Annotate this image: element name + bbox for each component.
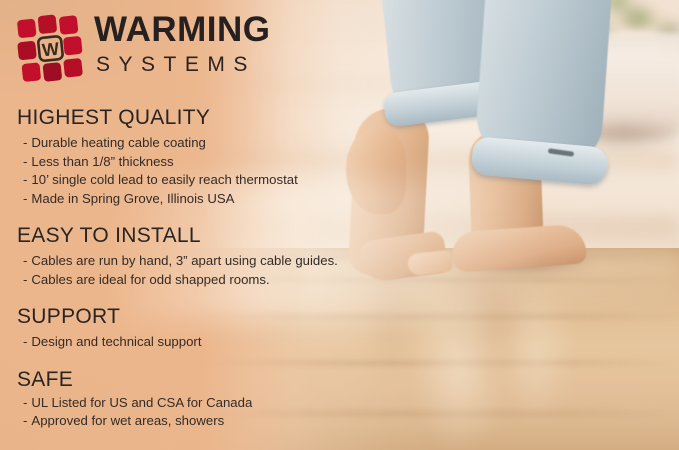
feature-bullet: -Durable heating cable coating bbox=[14, 134, 414, 153]
feature-bullet: -UL Listed for US and CSA for Canada bbox=[14, 394, 414, 413]
feature-list-highest-quality: -Durable heating cable coating -Less tha… bbox=[14, 134, 414, 208]
feature-list-support: -Design and technical support bbox=[14, 333, 414, 352]
feature-bullet-text: Cables are ideal for odd shapped rooms. bbox=[31, 272, 269, 287]
bullet-dash: - bbox=[23, 334, 27, 349]
bullet-dash: - bbox=[23, 172, 27, 187]
feature-section-highest-quality: HIGHEST QUALITY -Durable heating cable c… bbox=[14, 104, 414, 208]
brand-wordmark: WARMING SYSTEMS bbox=[94, 10, 266, 78]
feature-bullet-text: Made in Spring Grove, Illinois USA bbox=[31, 191, 234, 206]
feature-bullet: -Approved for wet areas, showers bbox=[14, 412, 414, 431]
feature-bullet-text: Approved for wet areas, showers bbox=[31, 413, 224, 428]
feature-heading-safe: SAFE bbox=[17, 366, 414, 393]
feature-section-safe: SAFE -UL Listed for US and CSA for Canad… bbox=[14, 366, 414, 431]
brand-logo[interactable]: W WARMING SYSTEMS bbox=[14, 10, 264, 88]
feature-section-support: SUPPORT -Design and technical support bbox=[14, 303, 414, 352]
bullet-dash: - bbox=[23, 395, 27, 410]
feature-list-safe: -UL Listed for US and CSA for Canada -Ap… bbox=[14, 394, 414, 431]
feature-bullet-text: Durable heating cable coating bbox=[31, 135, 206, 150]
feature-section-easy-to-install: EASY TO INSTALL -Cables are run by hand,… bbox=[14, 222, 414, 289]
brand-name-line1: WARMING bbox=[94, 10, 266, 50]
feature-bullet: -Less than 1/8” thickness bbox=[14, 153, 414, 172]
feature-list-easy-to-install: -Cables are run by hand, 3” apart using … bbox=[14, 252, 414, 289]
warming-systems-logo-icon: W bbox=[14, 12, 88, 86]
feature-bullet-text: UL Listed for US and CSA for Canada bbox=[31, 395, 252, 410]
feature-bullet-text: Less than 1/8” thickness bbox=[31, 154, 173, 169]
svg-text:W: W bbox=[41, 39, 60, 61]
feature-bullet-text: Cables are run by hand, 3” apart using c… bbox=[31, 253, 337, 268]
logo-grid-squares-icon: W bbox=[14, 12, 88, 86]
feature-bullet: -Cables are ideal for odd shapped rooms. bbox=[14, 271, 414, 290]
feature-bullet: -Design and technical support bbox=[14, 333, 414, 352]
bullet-dash: - bbox=[23, 154, 27, 169]
feature-bullet: -Cables are run by hand, 3” apart using … bbox=[14, 252, 414, 271]
feature-heading-support: SUPPORT bbox=[17, 303, 414, 330]
bullet-dash: - bbox=[23, 191, 27, 206]
feature-bullet: -Made in Spring Grove, Illinois USA bbox=[14, 190, 414, 209]
feature-bullet-text: Design and technical support bbox=[31, 334, 201, 349]
bullet-dash: - bbox=[23, 272, 27, 287]
product-feature-banner: W WARMING SYSTEMS HIGHEST QUALITY -Durab… bbox=[0, 0, 679, 450]
feature-heading-highest-quality: HIGHEST QUALITY bbox=[17, 104, 414, 131]
bullet-dash: - bbox=[23, 135, 27, 150]
feature-sections: HIGHEST QUALITY -Durable heating cable c… bbox=[14, 104, 414, 431]
feature-bullet: -10’ single cold lead to easily reach th… bbox=[14, 171, 414, 190]
feature-bullet-text: 10’ single cold lead to easily reach the… bbox=[31, 172, 297, 187]
foot-reflection bbox=[448, 254, 534, 404]
bullet-dash: - bbox=[23, 253, 27, 268]
feature-heading-easy-to-install: EASY TO INSTALL bbox=[17, 222, 414, 249]
bullet-dash: - bbox=[23, 413, 27, 428]
brand-name-line2: SYSTEMS bbox=[94, 52, 266, 78]
